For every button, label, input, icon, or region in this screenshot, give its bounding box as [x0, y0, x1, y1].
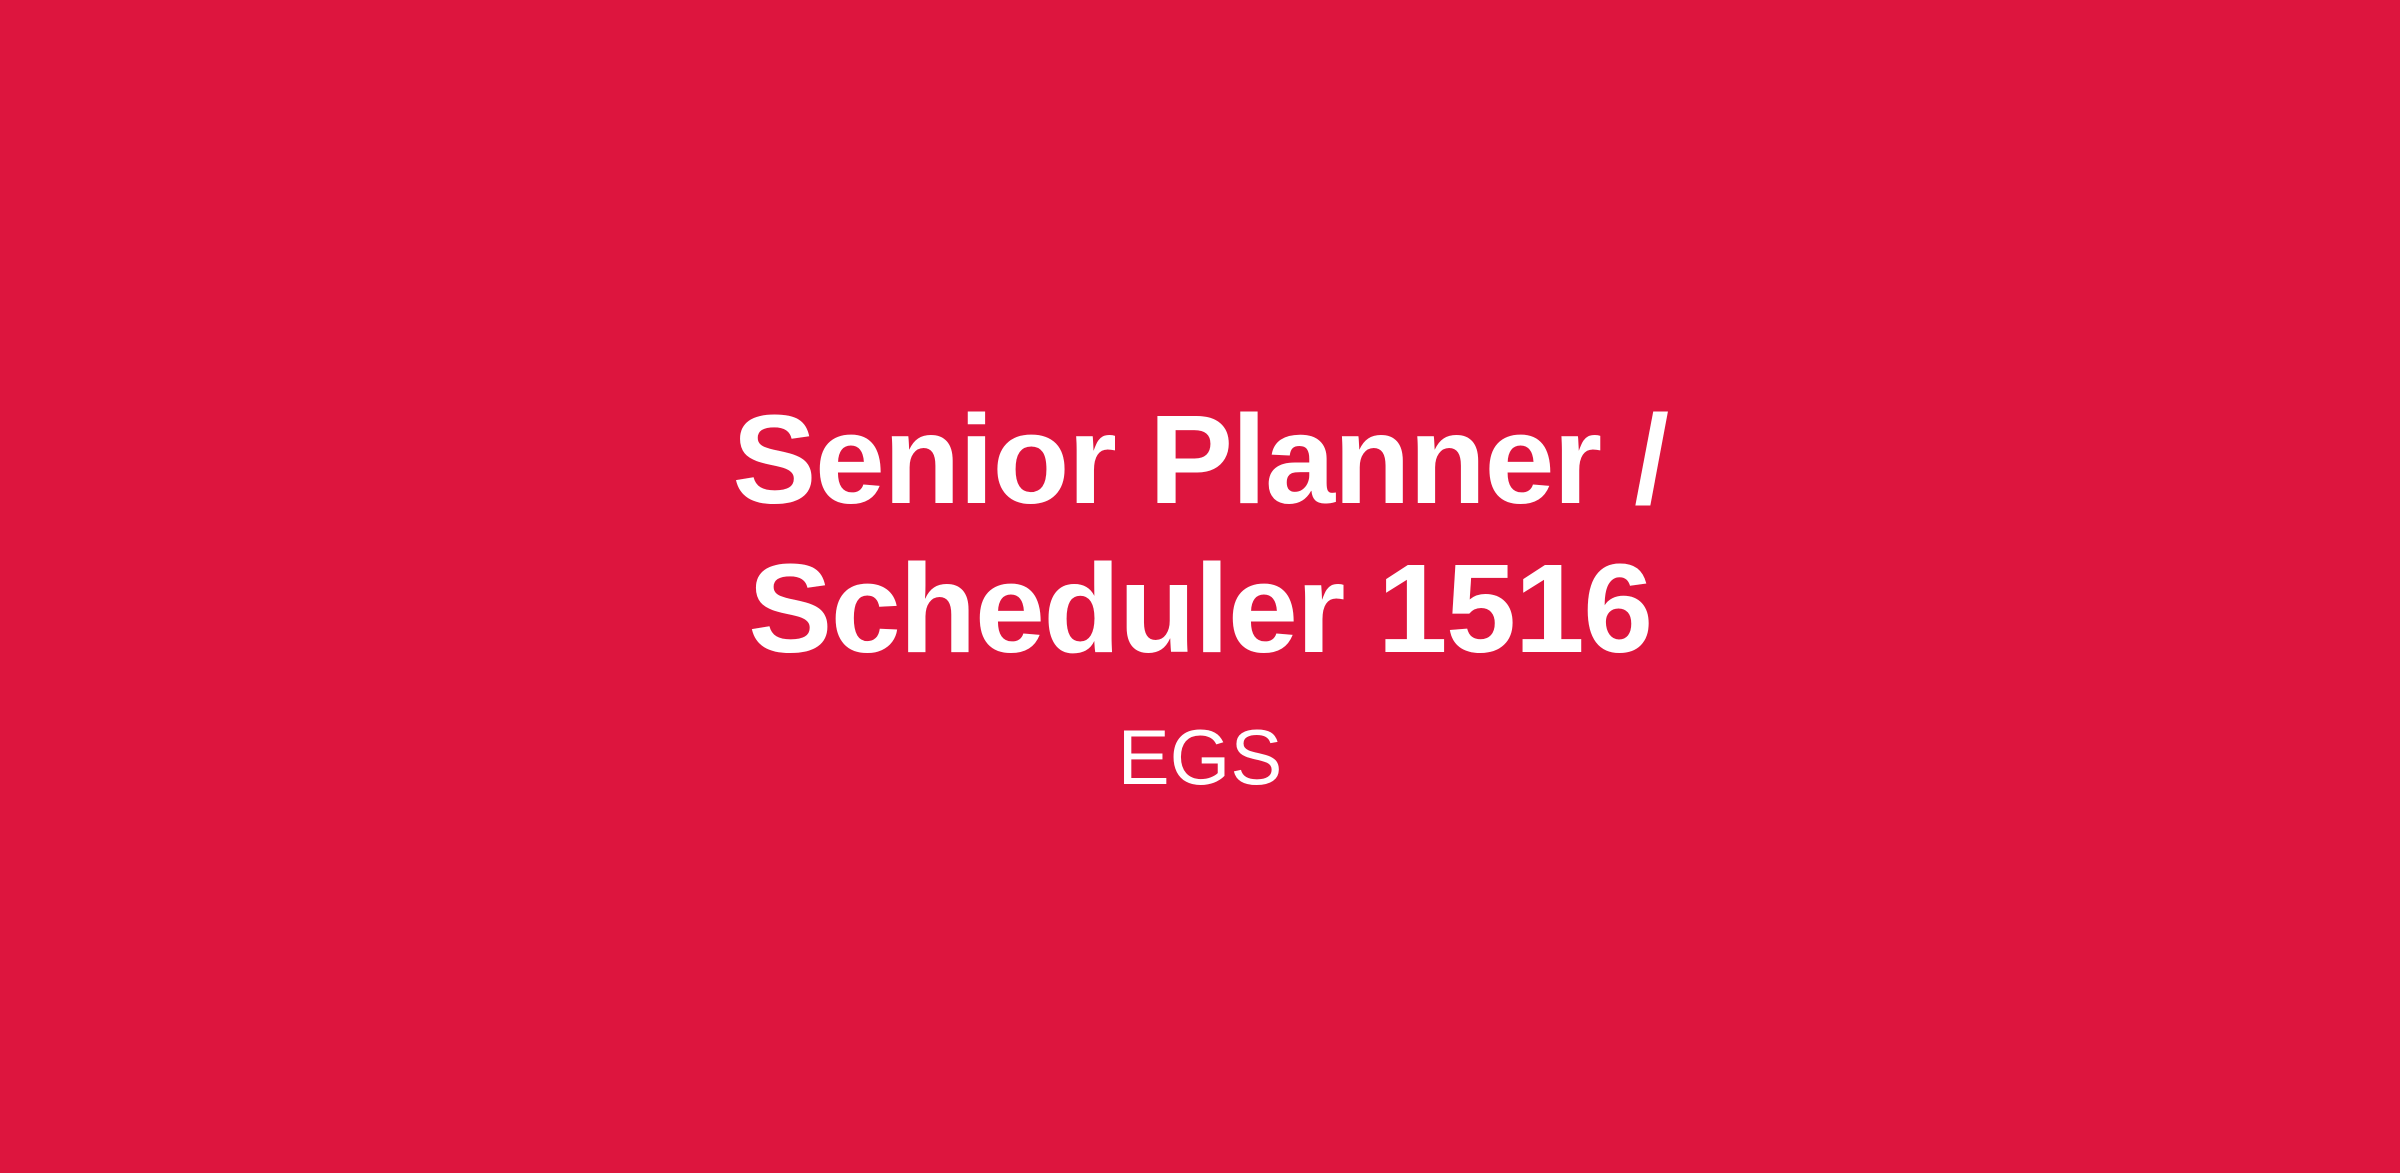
job-listing-card: Senior Planner / Scheduler 1516 EGS	[0, 0, 2400, 1173]
company-name: EGS	[1118, 711, 1283, 805]
page-title: Senior Planner / Scheduler 1516	[420, 386, 1980, 683]
hero-content: Senior Planner / Scheduler 1516 EGS	[400, 386, 2000, 805]
